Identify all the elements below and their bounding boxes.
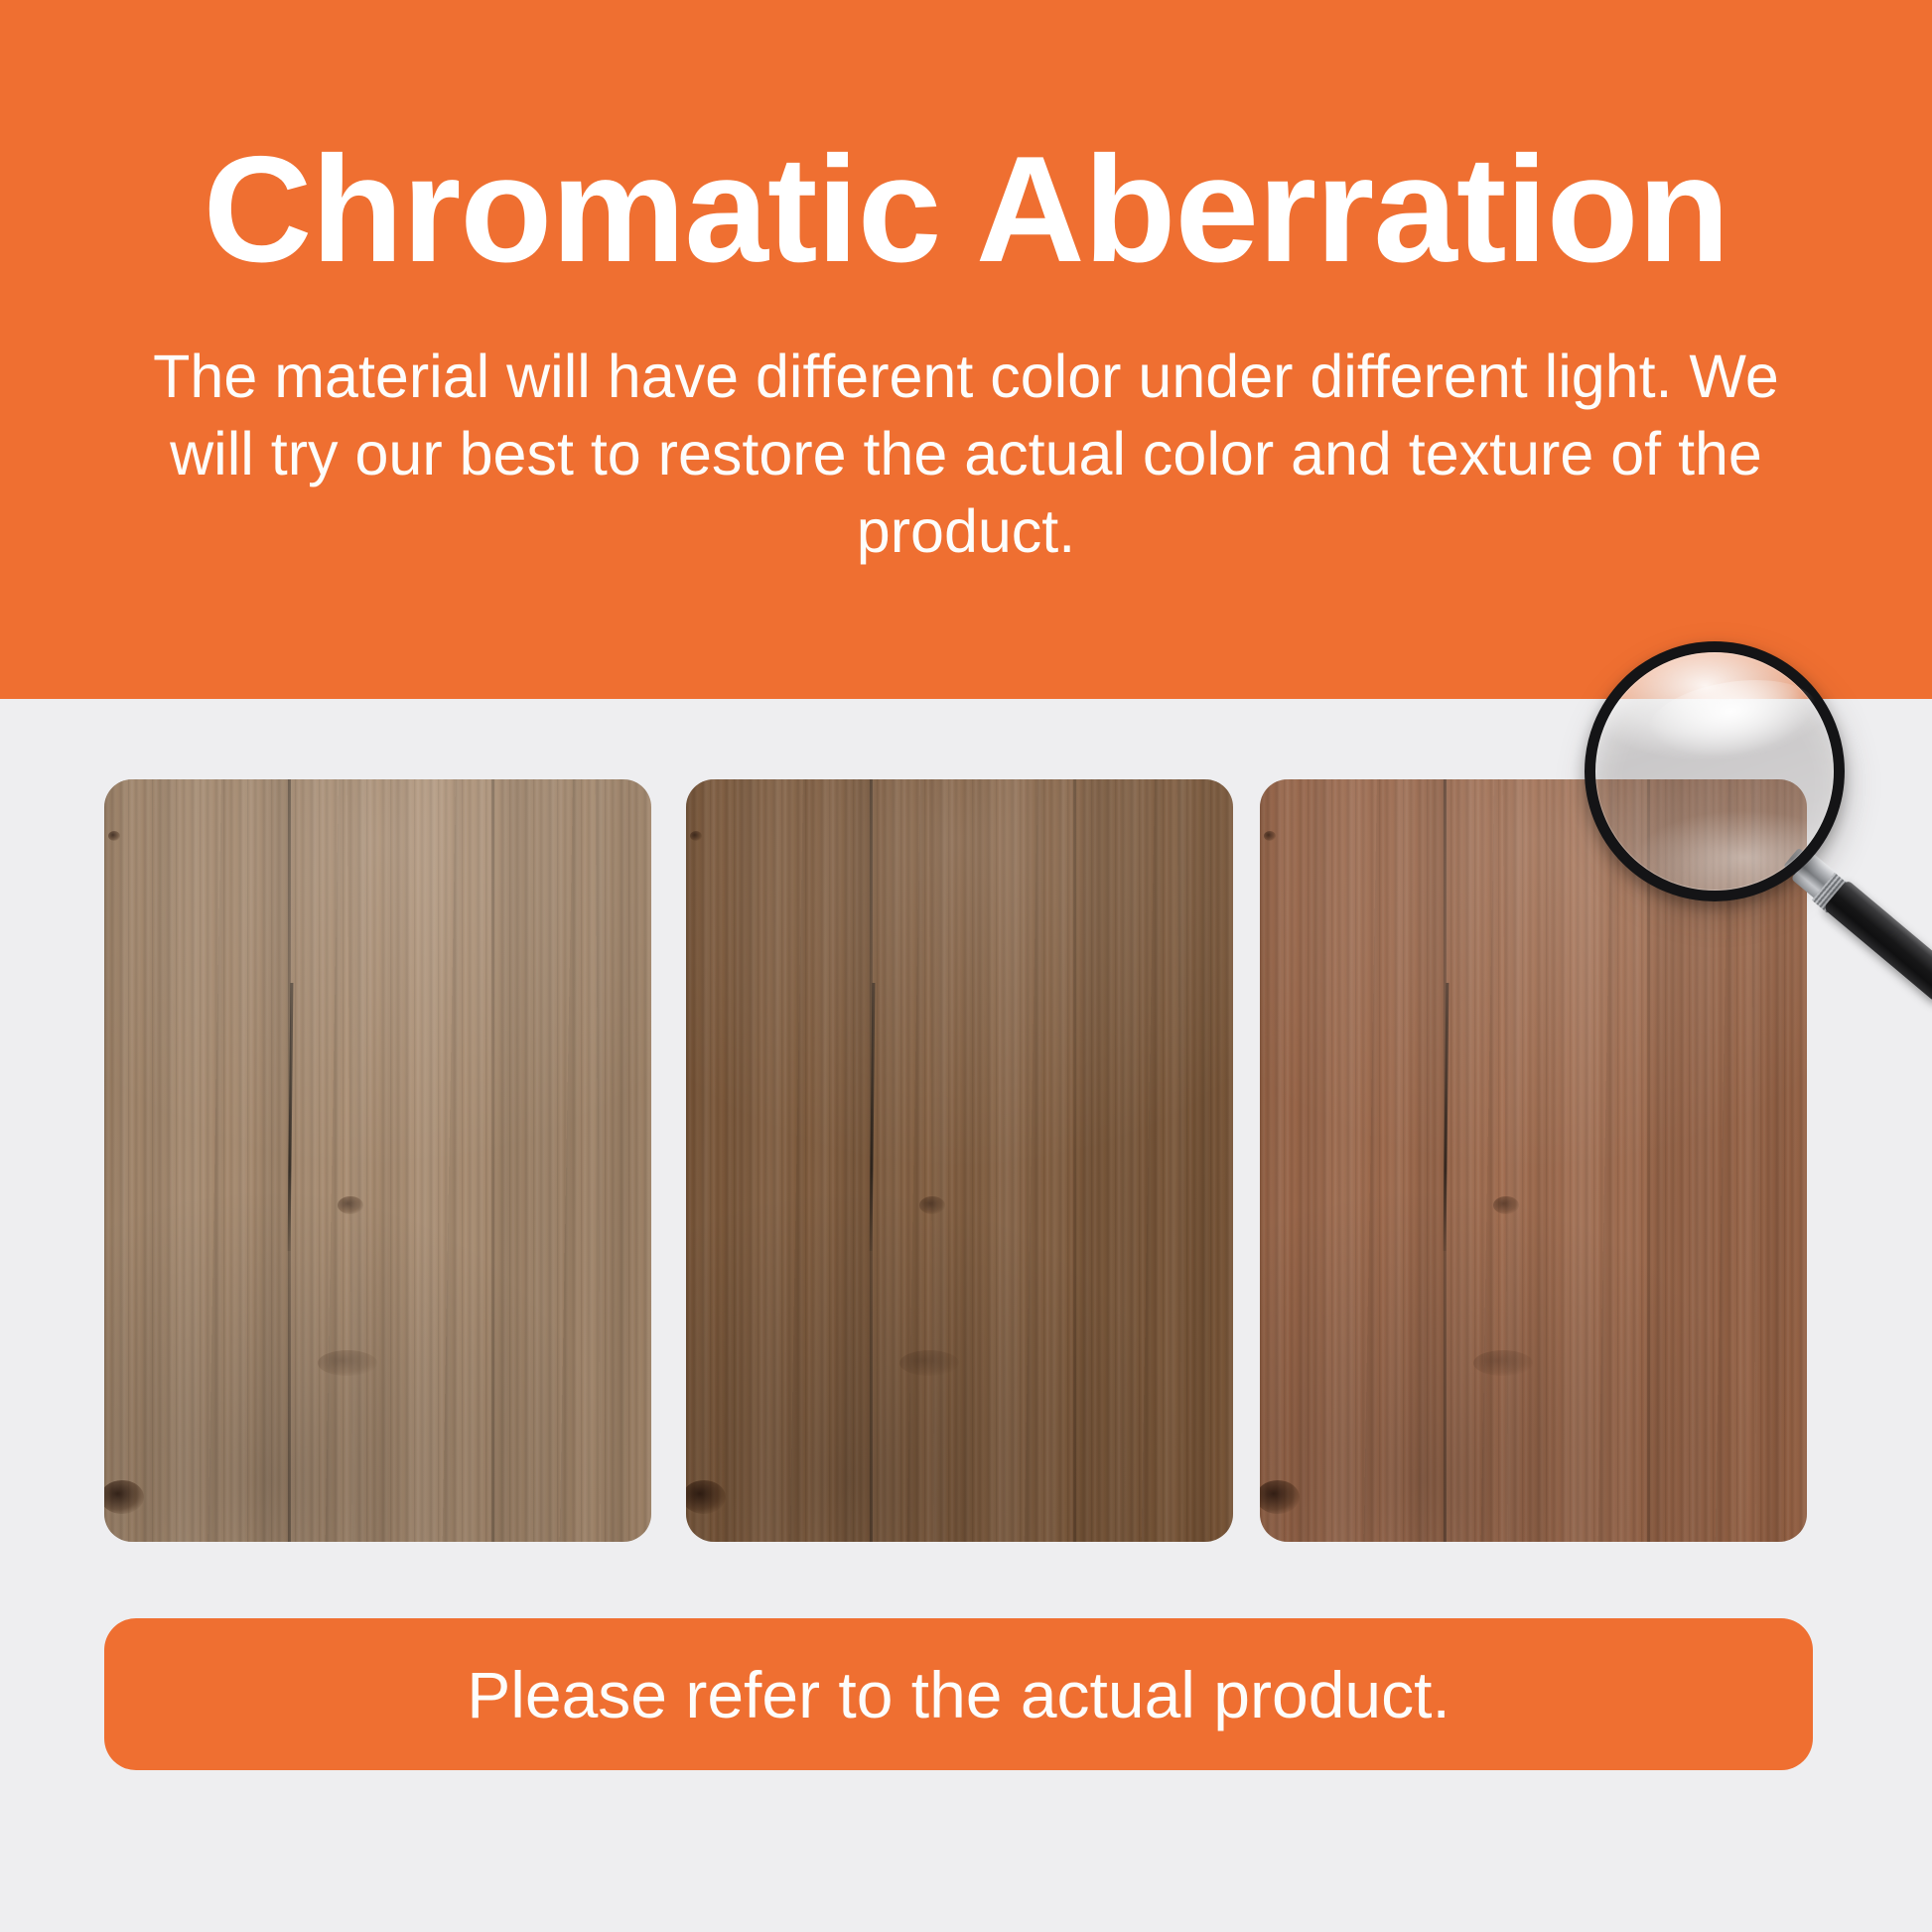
magnifier-grip xyxy=(1823,880,1932,1011)
wood-shading xyxy=(104,779,651,1542)
wood-swatch-red[interactable] xyxy=(1260,779,1807,1542)
wood-shading xyxy=(1260,779,1807,1542)
page-subtitle: The material will have different color u… xyxy=(104,338,1828,570)
wood-swatch-light[interactable] xyxy=(104,779,651,1542)
footer-banner: Please refer to the actual product. xyxy=(104,1618,1813,1770)
page-title: Chromatic Aberration xyxy=(0,127,1932,293)
footer-banner-text: Please refer to the actual product. xyxy=(467,1662,1450,1727)
wood-swatch-dark[interactable] xyxy=(686,779,1233,1542)
wood-shading xyxy=(686,779,1233,1542)
magnifier-knurl xyxy=(1812,873,1850,912)
header-banner: Chromatic Aberration The material will h… xyxy=(0,0,1932,699)
